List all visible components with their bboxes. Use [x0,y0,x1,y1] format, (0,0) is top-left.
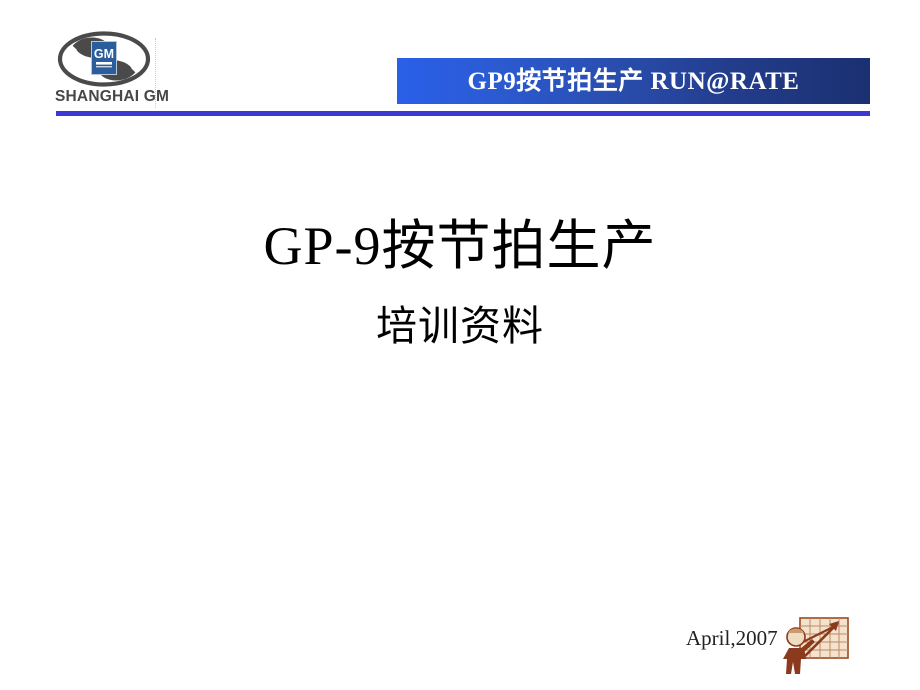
header-banner-title: GP9按节拍生产 RUN@RATE [468,69,800,94]
footer-date: April,2007 [686,625,778,649]
svg-text:GM: GM [94,47,114,61]
presenter-pointing-at-rising-chart-icon [779,612,851,678]
slide-sub-title: 培训资料 [0,304,920,350]
shanghai-gm-logo: GM SHANGHAI GM [56,30,152,112]
logo-divider [155,38,156,108]
footer: April,2007 [686,625,778,685]
shanghai-gm-swirl-icon: GM [56,30,152,88]
slide-main-title: GP-9按节拍生产 [0,216,920,276]
title-slide: GM SHANGHAI GM GP9按节拍生产 RUN@RATE GP-9按节拍… [0,0,920,690]
header-rule [56,111,870,116]
header-banner: GP9按节拍生产 RUN@RATE [397,58,870,104]
